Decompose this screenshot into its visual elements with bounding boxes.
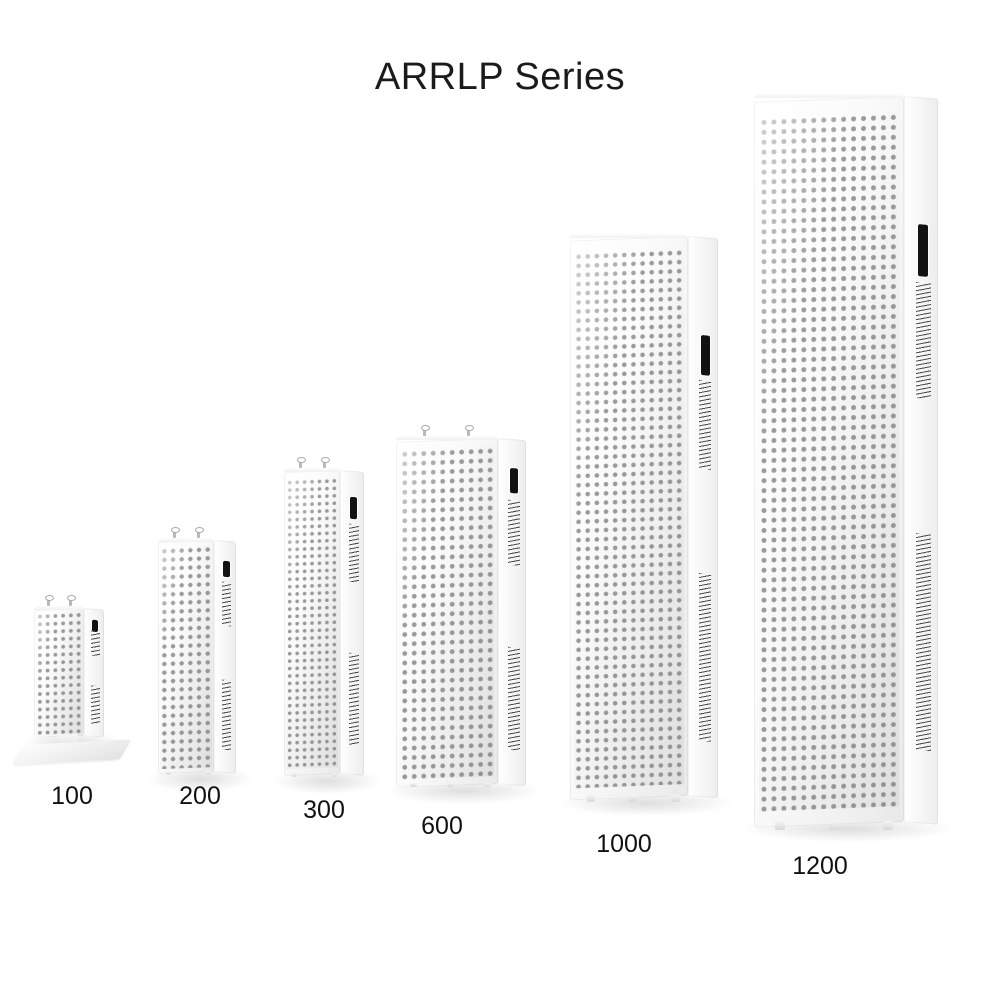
mount-eyelet: [299, 459, 302, 468]
panel-foot: [484, 783, 491, 787]
mount-eyelet: [47, 597, 50, 606]
vent-slats-lower: [91, 685, 99, 724]
panel-foot: [292, 773, 297, 777]
vent-slats-upper: [91, 631, 99, 656]
panel-top-cap: [284, 467, 340, 472]
vent-slats-upper: [699, 380, 712, 471]
led-array: [160, 545, 212, 769]
control-display[interactable]: [701, 335, 710, 376]
desktop-stand-base: [13, 739, 132, 764]
mount-eyelet: [423, 427, 426, 436]
product-600[interactable]: [396, 438, 526, 784]
product-label-1000: 1000: [572, 830, 676, 859]
vent-slats-lower: [508, 646, 520, 751]
product-label-100: 100: [34, 782, 110, 811]
mount-eyelet: [467, 427, 470, 436]
panel-foot: [332, 773, 337, 777]
product-100[interactable]: [34, 608, 104, 736]
control-display[interactable]: [510, 468, 518, 494]
product-1200[interactable]: [754, 96, 938, 822]
panel-foot: [775, 821, 785, 830]
product-300[interactable]: [284, 470, 364, 774]
panel-side-wall: [688, 236, 718, 798]
panel-foot: [829, 821, 839, 830]
panel-side-wall: [498, 438, 526, 786]
panel-top-cap: [158, 537, 214, 542]
product-label-300: 300: [282, 796, 366, 825]
panel-front-face: [284, 470, 340, 776]
mount-eyelet: [323, 459, 326, 468]
control-display[interactable]: [223, 560, 230, 577]
vent-slats-lower: [916, 533, 930, 752]
panel-top-cap: [570, 233, 688, 238]
panel-foot: [166, 771, 171, 775]
panel-side-wall: [214, 540, 236, 774]
led-array: [286, 477, 338, 770]
panel-front-face: [34, 608, 84, 738]
panel-top-cap: [754, 93, 904, 98]
panel-front-face: [158, 540, 214, 774]
led-array: [574, 248, 684, 788]
vent-slats-upper: [222, 581, 231, 626]
vent-slats-upper: [508, 499, 520, 566]
panel-foot: [883, 821, 893, 830]
mount-eyelet: [197, 529, 200, 538]
vent-slats-lower: [349, 653, 359, 745]
led-array: [759, 112, 899, 811]
panel-top-cap: [396, 435, 498, 440]
panel-top-cap: [34, 605, 84, 610]
vent-slats-upper: [916, 282, 930, 399]
vent-slats-lower: [222, 680, 231, 750]
mount-eyelet: [69, 597, 72, 606]
control-display[interactable]: [350, 497, 357, 519]
panel-foot: [206, 771, 211, 775]
panel-side-wall: [84, 608, 104, 738]
led-array: [400, 446, 495, 780]
panel-front-face: [570, 236, 688, 801]
vent-slats-upper: [349, 524, 359, 583]
product-1000[interactable]: [570, 236, 718, 796]
panel-front-face: [754, 96, 904, 828]
panel-foot: [587, 795, 595, 802]
panel-foot: [447, 783, 454, 787]
panel-side-wall: [904, 96, 938, 825]
product-label-1200: 1200: [768, 852, 872, 881]
panel-foot: [629, 795, 637, 802]
panel-foot: [671, 795, 679, 802]
product-200[interactable]: [158, 540, 236, 772]
product-label-600: 600: [400, 812, 484, 841]
vent-slats-lower: [699, 573, 712, 742]
product-lineup: 10020030060010001200: [0, 0, 1000, 1000]
control-display[interactable]: [918, 224, 928, 277]
mount-eyelet: [173, 529, 176, 538]
product-label-200: 200: [158, 782, 242, 811]
panel-side-wall: [340, 470, 364, 776]
panel-front-face: [396, 438, 498, 788]
led-array: [36, 611, 83, 735]
